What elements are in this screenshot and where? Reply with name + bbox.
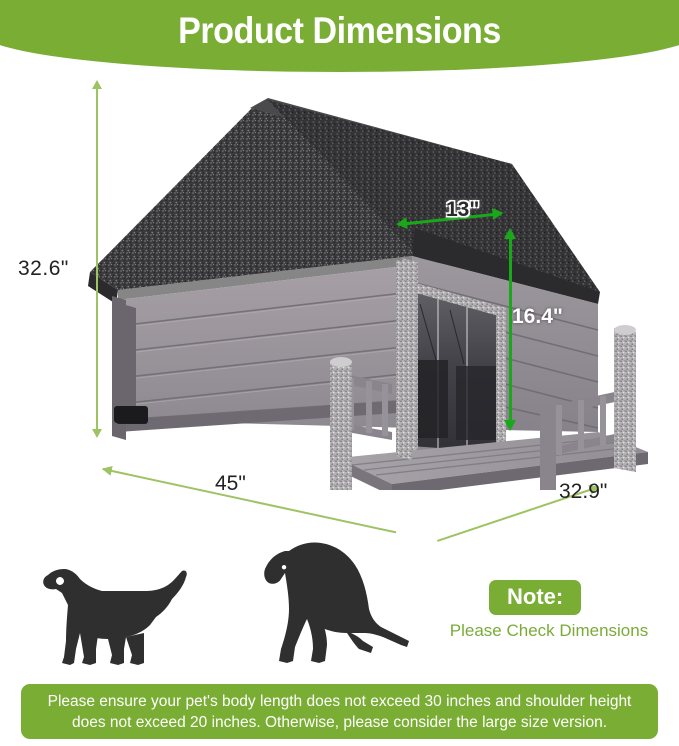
sitting-dog-silhouette xyxy=(255,527,415,675)
note-text: Please Check Dimensions xyxy=(424,620,674,642)
door-height-dimension-arrow xyxy=(509,237,512,422)
dog-house-svg xyxy=(0,60,679,490)
dog-house-illustration: 32.6" 45" 32.9" 13" 16.4" xyxy=(0,60,679,490)
door-height-dimension-label: 16.4" xyxy=(512,305,563,329)
height-dimension-label: 32.6" xyxy=(18,257,69,281)
footer-warning-banner: Please ensure your pet's body length doe… xyxy=(21,684,658,739)
footer-warning-text: Please ensure your pet's body length doe… xyxy=(21,691,658,733)
infographic-canvas: Product Dimensions xyxy=(0,0,679,746)
page-title: Product Dimensions xyxy=(27,9,652,53)
depth-dimension-label: 32.9" xyxy=(559,480,607,504)
length-dimension-label: 45" xyxy=(215,472,246,496)
standing-dog-silhouette xyxy=(40,545,200,675)
note-badge: Note: xyxy=(489,580,581,615)
door-width-dimension-label: 13" xyxy=(446,198,479,222)
height-dimension-arrow xyxy=(96,88,98,430)
